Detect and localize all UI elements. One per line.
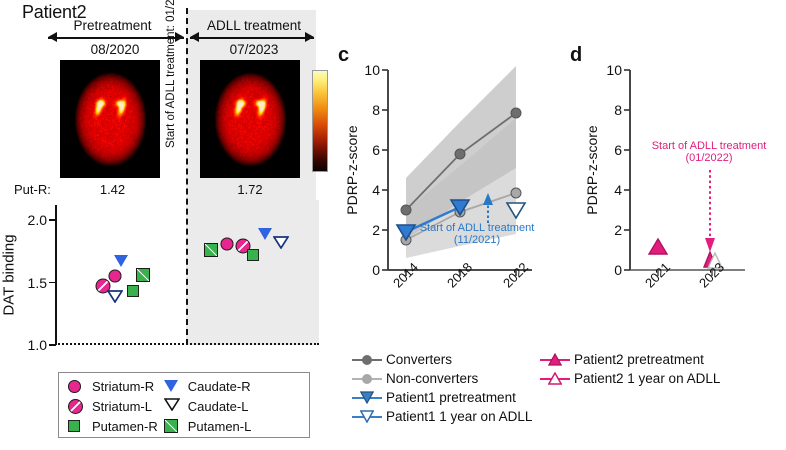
intensity-colorbar xyxy=(312,70,328,172)
legend-item-nonconverters: Non-converters xyxy=(352,369,532,388)
legend-symbol-patient1-pre-icon xyxy=(352,388,382,407)
panel-c-y-tick-label: 4 xyxy=(354,182,380,198)
panel-d-plot-area xyxy=(630,70,745,270)
arrow-line xyxy=(48,37,184,39)
treatment-start-label: Start of ADLL treatment: 01/2022 xyxy=(165,0,177,148)
phase-label-adll: ADLL treatment xyxy=(190,18,318,33)
legend-item-patient1-pre: Patient1 pretreatment xyxy=(352,388,532,407)
legend-label-converters: Converters xyxy=(386,350,452,369)
panel-dat-binding: Patient2 Pretreatment ADLL treatment 08/… xyxy=(0,0,330,450)
arrow-head-right-icon xyxy=(305,32,314,42)
legend-panel-d: Patient2 pretreatment Patient2 1 year on… xyxy=(540,350,720,388)
date-pretreatment: 08/2020 xyxy=(45,42,185,57)
y-tick-label: 1.0 xyxy=(28,337,47,353)
data-point-patient2-pretreatment xyxy=(649,239,667,254)
panel-c-y-tick-label: 6 xyxy=(354,142,380,158)
panel-d-y-axis-label: PDRP-z-score xyxy=(584,125,600,214)
legend-symbol-patient1-adll-icon xyxy=(352,407,382,426)
legend-panel-c: Converters Non-converters Patient1 pretr… xyxy=(352,350,532,426)
data-point-converters xyxy=(401,205,411,215)
panel-c-annotation: Start of ADLL treatment (11/2021) xyxy=(412,222,542,247)
panel-d-y-tick-label: 6 xyxy=(596,142,622,158)
scatter-point-caudate-l xyxy=(273,236,289,254)
legend-label-striatum-l: Striatum-L xyxy=(89,396,161,416)
y-axis-line xyxy=(55,205,57,345)
arrow-head-left-icon xyxy=(190,32,199,42)
legend-symbol-nonconverters-icon xyxy=(352,369,382,388)
legend-label-caudate-r: Caudate-R xyxy=(185,376,255,396)
scatter-point-putamen-l xyxy=(204,243,218,257)
putr-value-pretreatment: 1.42 xyxy=(65,182,160,197)
legend-label-putamen-l: Putamen-L xyxy=(185,416,255,436)
legend-symbol-patient2-pre-icon xyxy=(540,350,570,369)
legend-label-striatum-r: Striatum-R xyxy=(89,376,161,396)
scatter-point-putamen-r xyxy=(127,285,139,297)
putr-value-adll: 1.72 xyxy=(200,182,300,197)
phase-label-pretreatment: Pretreatment xyxy=(40,18,185,33)
panel-d-letter: d xyxy=(570,44,582,67)
scatter-point-striatum-r xyxy=(221,237,234,250)
legend-label-patient2-adll: Patient2 1 year on ADLL xyxy=(574,369,720,388)
scatter-point-putamen-r xyxy=(247,249,259,261)
spect-image-adll xyxy=(200,60,300,178)
annotation-arrow-head-icon xyxy=(705,238,715,252)
legend-dat-binding: Striatum-R Caudate-R Striatum-L Caudate-… xyxy=(58,372,310,438)
spect-image-pretreatment xyxy=(60,60,160,178)
scatter-point-caudate-l xyxy=(107,290,123,308)
date-adll: 07/2023 xyxy=(190,42,318,57)
legend-label-nonconverters: Non-converters xyxy=(386,369,478,388)
panel-c-y-tick-label: 10 xyxy=(354,62,380,78)
y-axis-label: DAT binding xyxy=(1,234,18,315)
legend-item-patient1-adll: Patient1 1 year on ADLL xyxy=(352,407,532,426)
data-point-converters xyxy=(511,108,521,118)
dat-binding-scatter-plot: DAT binding 2.01.51.0 xyxy=(55,205,319,345)
putr-row-label: Put-R: xyxy=(14,182,51,197)
legend-item-patient2-adll: Patient2 1 year on ADLL xyxy=(540,369,720,388)
legend-symbol-caudate-l-icon xyxy=(161,396,185,416)
x-axis-baseline xyxy=(55,343,319,345)
panel-d-y-tick-label: 10 xyxy=(596,62,622,78)
panel-d-y-tick-label: 8 xyxy=(596,102,622,118)
scatter-point-striatum-r xyxy=(109,270,122,283)
legend-symbol-putamen-r-icon xyxy=(65,416,89,436)
data-point-nonconverters xyxy=(511,188,521,198)
y-tick xyxy=(49,219,56,221)
legend-item-converters: Converters xyxy=(352,350,532,369)
panel-c-y-axis-label: PDRP-z-score xyxy=(344,125,360,214)
y-tick xyxy=(49,282,56,284)
y-tick-label: 2.0 xyxy=(28,212,47,228)
data-point-converters xyxy=(455,149,465,159)
panel-c-y-tick-label: 8 xyxy=(354,102,380,118)
legend-label-patient2-pre: Patient2 pretreatment xyxy=(574,350,704,369)
legend-symbol-striatum-l-icon xyxy=(65,396,89,416)
legend-symbol-caudate-r-icon xyxy=(161,376,185,396)
legend-symbol-converters-icon xyxy=(352,350,382,369)
scatter-point-caudate-r xyxy=(258,228,272,240)
panel-d-y-tick-label: 4 xyxy=(596,182,622,198)
legend-label-putamen-r: Putamen-R xyxy=(89,416,161,436)
panel-c-y-tick-label: 2 xyxy=(354,222,380,238)
legend-label-patient1-pre: Patient1 pretreatment xyxy=(386,388,516,407)
legend-symbol-putamen-l-icon xyxy=(161,416,185,436)
panel-d-y-tick-label: 2 xyxy=(596,222,622,238)
legend-item-patient2-pre: Patient2 pretreatment xyxy=(540,350,720,369)
legend-symbol-patient2-adll-icon xyxy=(540,369,570,388)
legend-symbol-striatum-r-icon xyxy=(65,376,89,396)
panel-c-letter: c xyxy=(338,44,349,67)
panel-d-annotation: Start of ADLL treatment (01/2022) xyxy=(644,140,774,165)
panel-c-y-tick-label: 0 xyxy=(354,262,380,278)
panel-d-y-tick-label: 0 xyxy=(596,262,622,278)
y-tick-label: 1.5 xyxy=(28,275,47,291)
legend-label-patient1-adll: Patient1 1 year on ADLL xyxy=(386,407,532,426)
scatter-point-putamen-l xyxy=(136,268,150,282)
legend-label-caudate-l: Caudate-L xyxy=(185,396,255,416)
scatter-point-caudate-r xyxy=(114,255,128,267)
arrow-head-left-icon xyxy=(48,32,57,42)
arrow-line xyxy=(190,37,314,39)
y-tick xyxy=(49,344,56,346)
